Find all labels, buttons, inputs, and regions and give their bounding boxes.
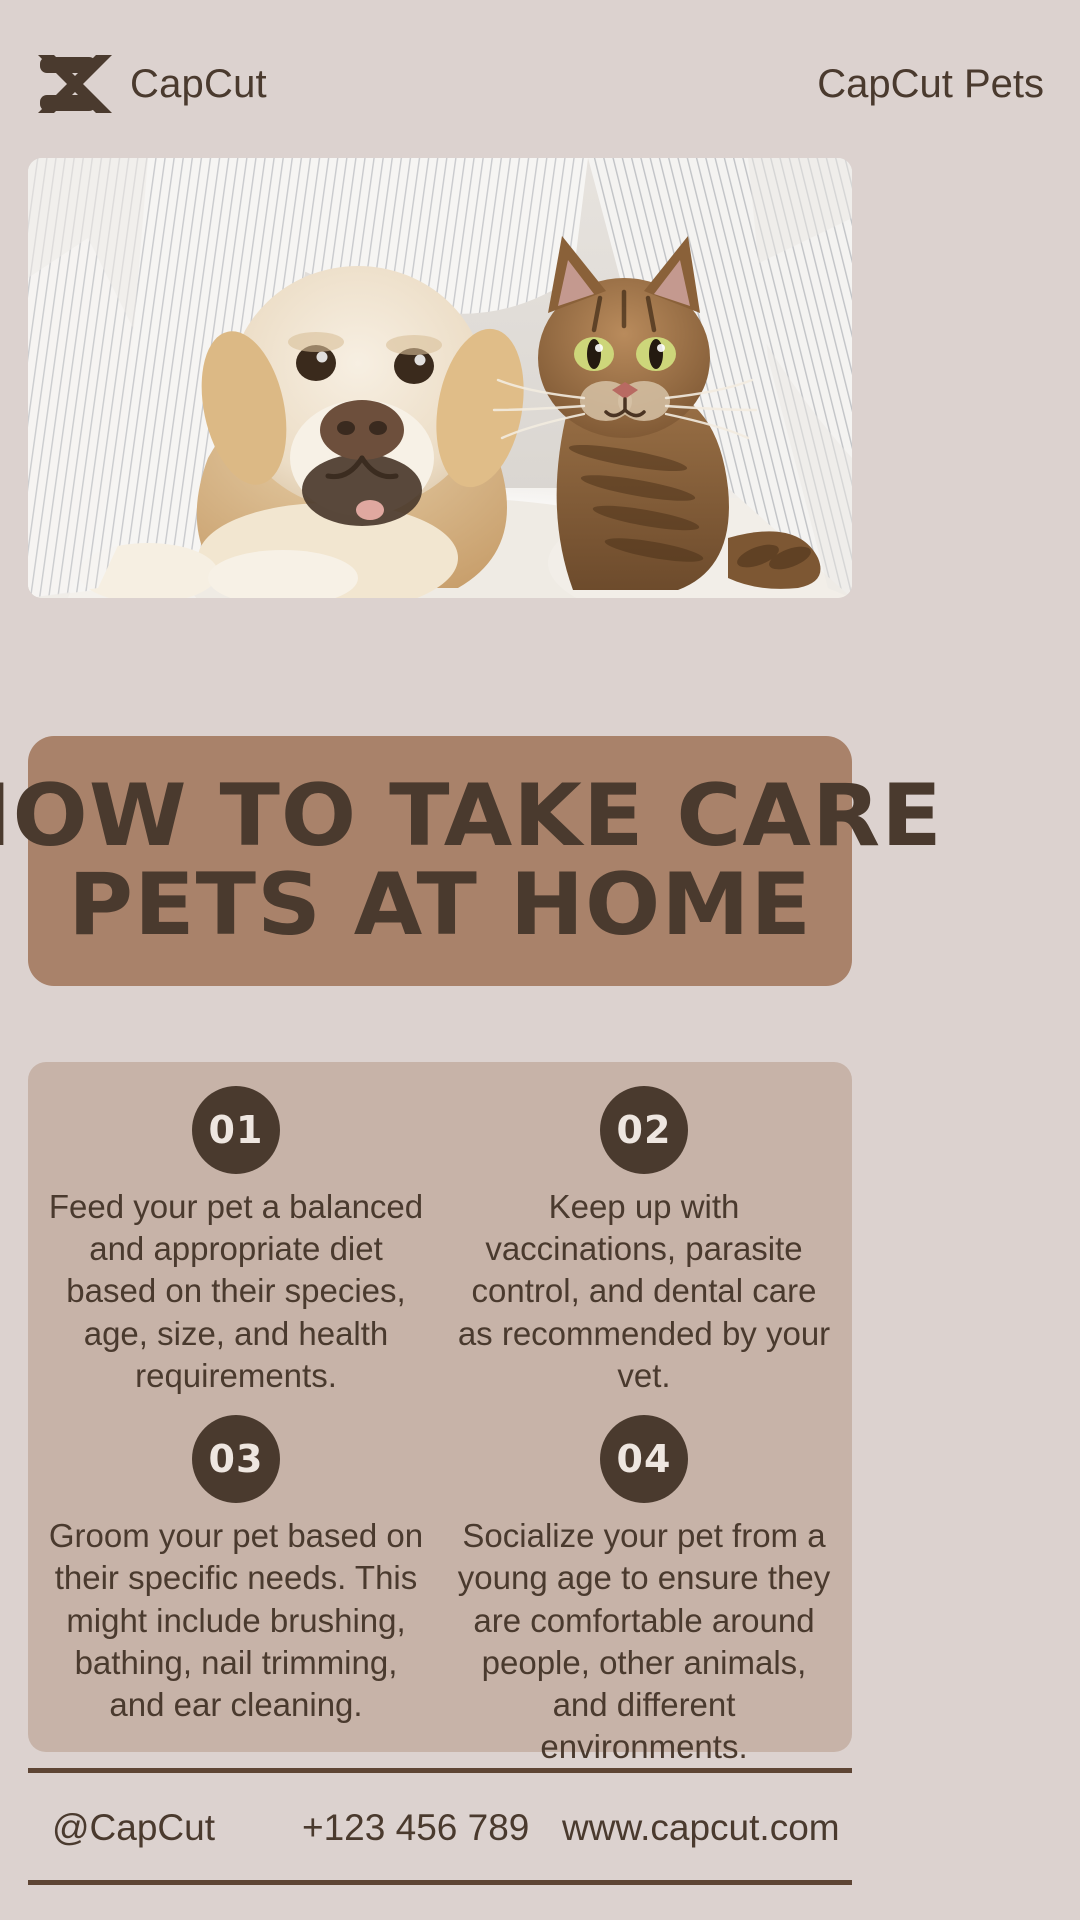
- title-banner: HOW TO TAKE CARE PETS AT HOME: [28, 736, 852, 986]
- footer-rule-top: [28, 1768, 852, 1773]
- brand-name: CapCut: [130, 62, 267, 107]
- tip-number-badge: 04: [600, 1415, 688, 1503]
- footer-phone[interactable]: +123 456 789: [302, 1807, 562, 1849]
- header: CapCut CapCut Pets: [0, 48, 1080, 120]
- tip-number-badge: 02: [600, 1086, 688, 1174]
- tip-text: Keep up with vaccinations, parasite cont…: [454, 1186, 834, 1397]
- footer-rule-bottom: [28, 1880, 852, 1885]
- tip-card-04: 04 Socialize your pet from a young age t…: [454, 1415, 834, 1768]
- tip-text: Groom your pet based on their specific n…: [46, 1515, 426, 1726]
- tip-card-02: 02 Keep up with vaccinations, parasite c…: [454, 1086, 834, 1397]
- brand: CapCut: [36, 53, 267, 115]
- tip-text: Socialize your pet from a young age to e…: [454, 1515, 834, 1768]
- header-right-label: CapCut Pets: [817, 62, 1044, 107]
- tip-card-01: 01 Feed your pet a balanced and appropri…: [46, 1086, 426, 1397]
- tips-panel: 01 Feed your pet a balanced and appropri…: [28, 1062, 852, 1752]
- footer-social-handle[interactable]: @CapCut: [52, 1807, 302, 1849]
- hero-photo: [28, 158, 852, 598]
- footer-website[interactable]: www.capcut.com: [562, 1807, 840, 1849]
- title-line-2: PETS AT HOME: [68, 861, 812, 950]
- infographic-page: CapCut CapCut Pets: [0, 0, 1080, 1920]
- title-line-1: HOW TO TAKE CARE: [0, 772, 943, 861]
- tips-grid: 01 Feed your pet a balanced and appropri…: [46, 1086, 834, 1769]
- tip-number-badge: 01: [192, 1086, 280, 1174]
- tip-text: Feed your pet a balanced and appropriate…: [46, 1186, 426, 1397]
- capcut-logo-icon: [36, 53, 112, 115]
- footer: @CapCut +123 456 789 www.capcut.com: [28, 1782, 852, 1874]
- tip-card-03: 03 Groom your pet based on their specifi…: [46, 1415, 426, 1768]
- tip-number-badge: 03: [192, 1415, 280, 1503]
